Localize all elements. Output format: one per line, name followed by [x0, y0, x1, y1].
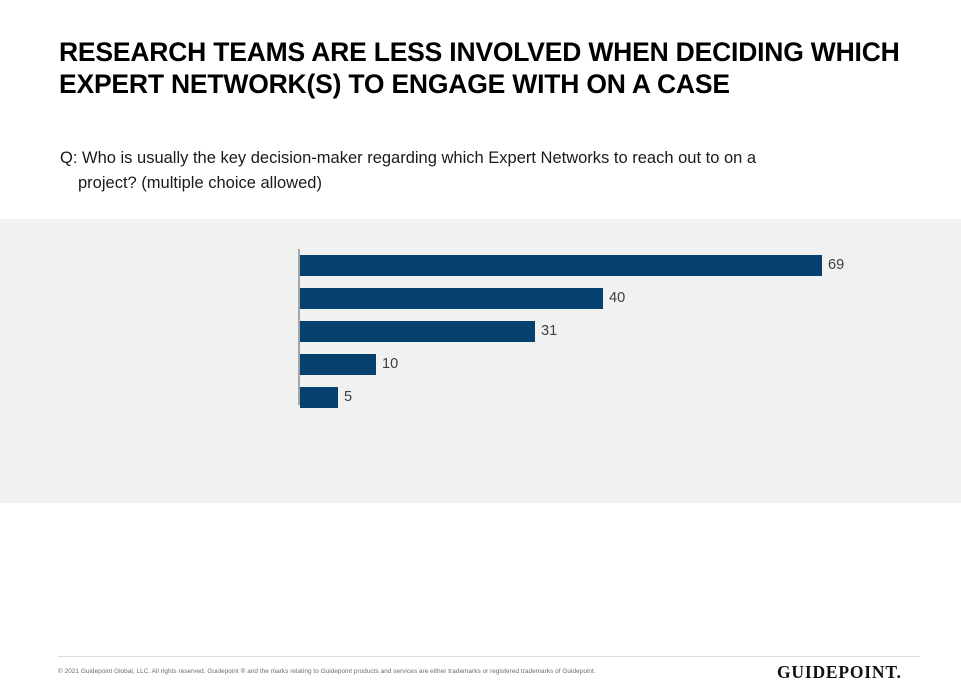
bar-value-label: 10 — [382, 354, 398, 375]
bar — [300, 288, 603, 309]
copyright-text: © 2021 Guidepoint Global, LLC. All right… — [58, 667, 758, 677]
survey-question: Q: Who is usually the key decision-maker… — [60, 146, 860, 196]
bar — [300, 354, 376, 375]
bar-value-label: 69 — [828, 255, 844, 276]
guidepoint-logo: GUIDEPOINT. — [777, 662, 902, 683]
bar-value-label: 31 — [541, 321, 557, 342]
bar-value-label: 5 — [344, 387, 352, 408]
slide-header: RESEARCH TEAMS ARE LESS INVOLVED WHEN DE… — [0, 0, 961, 219]
survey-question-line-1: Q: Who is usually the key decision-maker… — [60, 149, 756, 167]
chart-panel: Senior Consultant/Manager69Associate/Jun… — [0, 219, 961, 503]
footer-divider — [58, 656, 920, 657]
bar-chart: Senior Consultant/Manager69Associate/Jun… — [0, 219, 961, 503]
bar — [300, 255, 822, 276]
slide: RESEARCH TEAMS ARE LESS INVOLVED WHEN DE… — [0, 0, 961, 503]
survey-question-line-2: project? (multiple choice allowed) — [60, 171, 860, 196]
bar — [300, 321, 535, 342]
page-title: RESEARCH TEAMS ARE LESS INVOLVED WHEN DE… — [59, 36, 919, 100]
bar-value-label: 40 — [609, 288, 625, 309]
bar — [300, 387, 338, 408]
